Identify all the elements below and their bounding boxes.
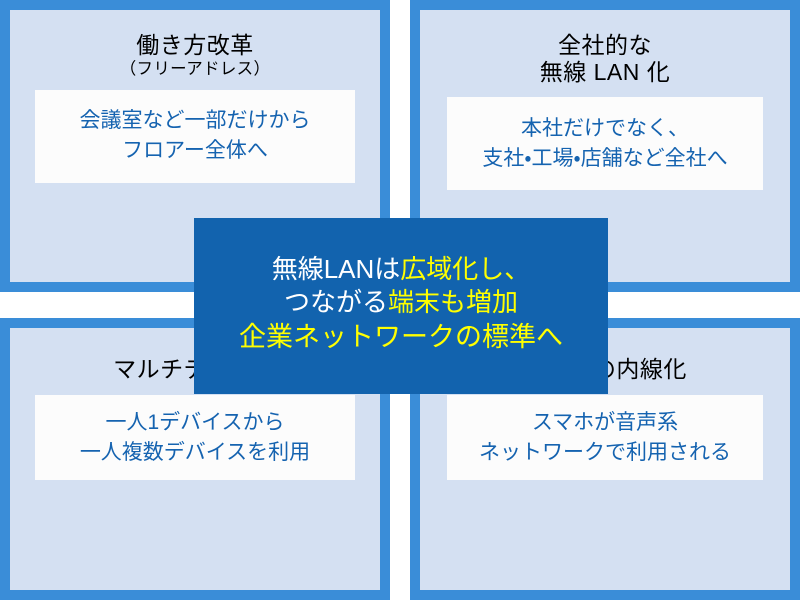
quadrant-title: 全社的な 無線 LAN 化 (420, 32, 790, 86)
quadrant-heading: 全社的な 無線 LAN 化 (420, 32, 790, 87)
center-line-2: つながる端末も増加 (284, 286, 518, 320)
quadrant-heading: 働き方改革 （フリーアドレス） (10, 32, 380, 80)
quadrant-detail-card: 一人1デバイスから 一人複数デバイスを利用 (35, 395, 355, 480)
center-line-1: 無線LANは広域化し、 (272, 253, 531, 287)
quadrant-title: 働き方改革 (10, 32, 380, 59)
center-conclusion-box: 無線LANは広域化し、 つながる端末も増加 企業ネットワークの標準へ (194, 218, 608, 394)
infographic-canvas: 働き方改革 （フリーアドレス） 会議室など一部だけから フロアー全体へ 全社的な… (0, 0, 800, 600)
center-line-2-plain: つながる (284, 287, 388, 317)
quadrant-detail-card: 本社だけでなく、 支社・工場・店舗など全社へ (447, 97, 763, 190)
center-line-3-highlight: 企業ネットワークの標準へ (239, 322, 563, 352)
center-line-1-highlight: 広域化し、 (400, 254, 530, 284)
quadrant-subtitle: （フリーアドレス） (10, 60, 380, 79)
quadrant-detail-card: スマホが音声系 ネットワークで利用される (447, 395, 763, 480)
center-line-3: 企業ネットワークの標準へ (239, 320, 563, 355)
center-line-1-plain: 無線LANは (272, 254, 401, 284)
quadrant-detail-card: 会議室など一部だけから フロアー全体へ (35, 90, 355, 183)
center-line-2-highlight: 端末も増加 (388, 287, 518, 317)
